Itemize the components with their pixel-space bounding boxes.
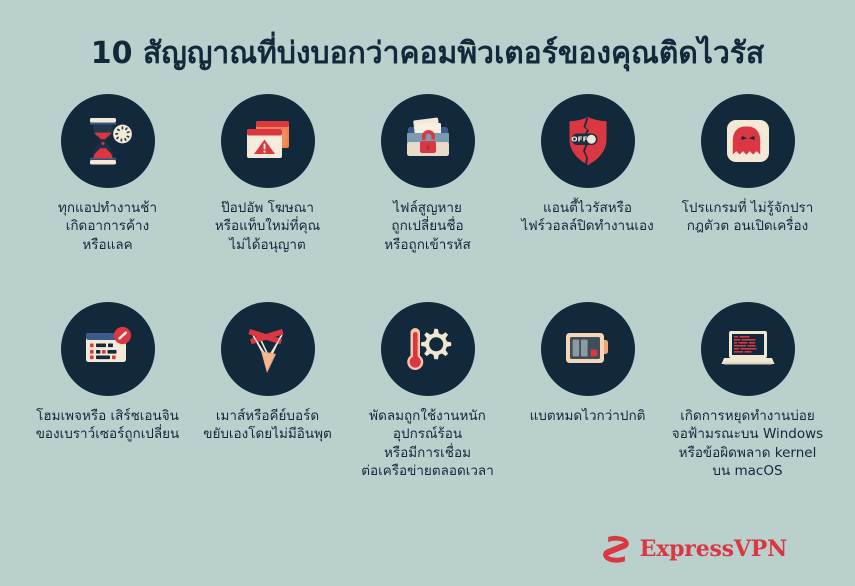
sign-caption: ทุกแอปทำงานช้า เกิดอาการค้าง หรือแลค — [19, 199, 197, 254]
icon-circle — [221, 302, 315, 396]
ghost-app-icon — [717, 110, 779, 172]
popup-window-warning-icon — [237, 110, 299, 172]
sign-caption: ไฟล์สูญหาย ถูกเปลี่ยนชื่อ หรือถูกเข้ารหั… — [339, 199, 517, 254]
battery-low-icon — [557, 318, 619, 380]
sign-item-10: เกิดการหยุดทำงานบ่อย จอฟ้ามรณะบน Windows… — [668, 302, 828, 480]
sign-caption: เมาส์หรือคีย์บอร์ด ขยับเองโดยไม่มีอินพุต — [179, 407, 357, 444]
infographic-page: 10 สัญญาณที่บ่งบอกว่าคอมพิวเตอร์ของคุณติ… — [0, 0, 855, 586]
sign-caption: ป๊อปอัพ โฆษณา หรือแท็บใหม่ที่คุณ ไม่ได้อ… — [179, 199, 357, 254]
icon-circle — [381, 94, 475, 188]
sign-caption: แบตหมดไวกว่าปกติ — [499, 407, 677, 425]
icon-circle — [541, 302, 635, 396]
icon-circle — [381, 302, 475, 396]
sign-item-4: OFF แอนตี้ไวรัสหรือ ไฟร์วอลล์ปิดทำงานเอง — [508, 94, 668, 236]
svg-text:OFF: OFF — [571, 135, 587, 144]
icon-circle — [61, 94, 155, 188]
icon-circle — [701, 302, 795, 396]
sign-item-1: ทุกแอปทำงานช้า เกิดอาการค้าง หรือแลค — [28, 94, 188, 254]
signs-row-1: ทุกแอปทำงานช้า เกิดอาการค้าง หรือแลค — [0, 94, 855, 302]
expressvpn-e-mark-icon — [601, 534, 633, 564]
sign-caption: เกิดการหยุดทำงานบ่อย จอฟ้ามรณะบน Windows… — [659, 407, 837, 480]
icon-circle — [221, 94, 315, 188]
brand-name: ExpressVPN — [640, 536, 787, 562]
sign-item-2: ป๊อปอัพ โฆษณา หรือแท็บใหม่ที่คุณ ไม่ได้อ… — [188, 94, 348, 254]
sign-caption: โฮมเพจหรือ เสิร์ชเอนจิน ของเบราว์เซอร์ถู… — [19, 407, 197, 444]
icon-circle — [701, 94, 795, 188]
sign-caption: แอนตี้ไวรัสหรือ ไฟร์วอลล์ปิดทำงานเอง — [499, 199, 677, 236]
icon-circle: OFF — [541, 94, 635, 188]
folder-unlocked-icon — [397, 110, 459, 172]
sign-item-9: แบตหมดไวกว่าปกติ — [508, 302, 668, 425]
expressvpn-logo[interactable]: ExpressVPN — [601, 534, 787, 564]
icon-circle — [61, 302, 155, 396]
hourglass-spinner-icon — [77, 110, 139, 172]
page-title: 10 สัญญาณที่บ่งบอกว่าคอมพิวเตอร์ของคุณติ… — [0, 0, 855, 72]
signs-row-2: โฮมเพจหรือ เสิร์ชเอนจิน ของเบราว์เซอร์ถู… — [0, 302, 855, 502]
sign-item-6: โฮมเพจหรือ เสิร์ชเอนจิน ของเบราว์เซอร์ถู… — [28, 302, 188, 444]
laptop-crash-icon — [717, 318, 779, 380]
sign-item-8: พัดลมถูกใช้งานหนัก อุปกรณ์ร้อน หรือมีการ… — [348, 302, 508, 480]
puppet-strings-icon — [237, 318, 299, 380]
sign-item-3: ไฟล์สูญหาย ถูกเปลี่ยนชื่อ หรือถูกเข้ารหั… — [348, 94, 508, 254]
thermometer-gear-icon — [397, 318, 459, 380]
sign-item-5: โปรแกรมที่ ไม่รู้จักปรา กฎตัวต อนเปิดเคร… — [668, 94, 828, 236]
signs-grid: ทุกแอปทำงานช้า เกิดอาการค้าง หรือแลค — [0, 94, 855, 502]
sign-item-7: เมาส์หรือคีย์บอร์ด ขยับเองโดยไม่มีอินพุต — [188, 302, 348, 444]
cracked-shield-off-toggle-icon: OFF — [557, 110, 619, 172]
sign-caption: โปรแกรมที่ ไม่รู้จักปรา กฎตัวต อนเปิดเคร… — [659, 199, 837, 236]
sign-caption: พัดลมถูกใช้งานหนัก อุปกรณ์ร้อน หรือมีการ… — [339, 407, 517, 480]
browser-blocked-icon — [77, 318, 139, 380]
